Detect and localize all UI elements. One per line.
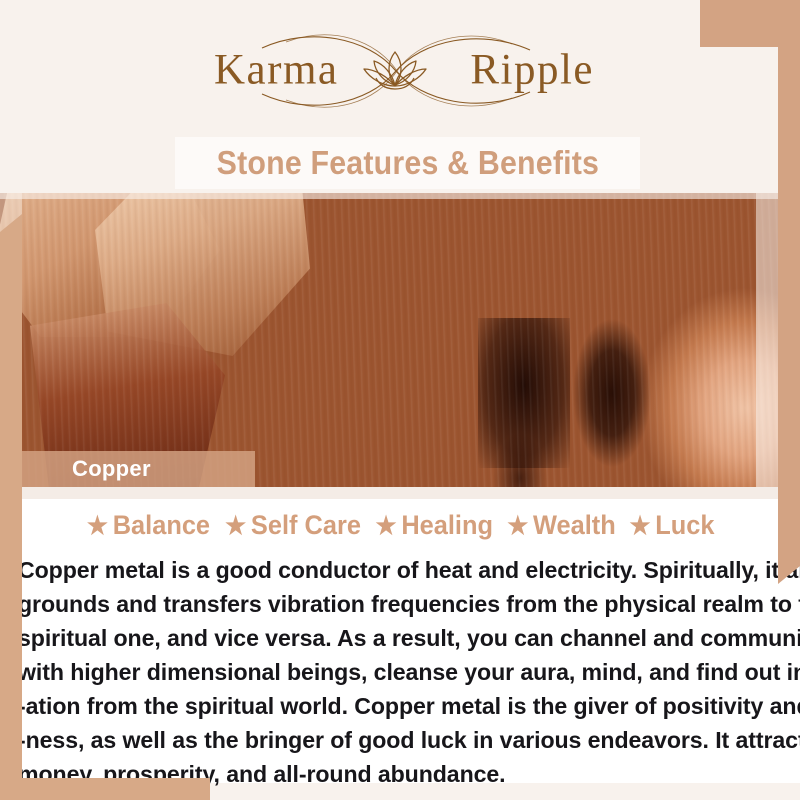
description-line: Copper metal is a good conductor of heat…: [18, 553, 771, 587]
star-icon: ★: [508, 511, 529, 541]
benefit-label: Healing: [402, 510, 494, 541]
benefit-label: Self Care: [251, 510, 361, 541]
header: Karma Ripple: [0, 0, 800, 140]
description-text: Copper metal is a good conductor of heat…: [18, 553, 782, 791]
benefit-label: Wealth: [533, 510, 616, 541]
brand-name-left: Karma: [214, 46, 339, 95]
benefit-item: ★ Luck: [623, 510, 715, 541]
star-icon: ★: [225, 511, 246, 541]
description-line: grounds and transfers vibration frequenc…: [18, 587, 771, 621]
frame-accent-left: [0, 232, 22, 800]
page-title-band: Stone Features & Benefits: [175, 137, 640, 189]
benefit-label: Balance: [113, 510, 210, 541]
photo-top-fade: [0, 193, 800, 199]
content-panel: ★ Balance ★ Self Care ★ Healing ★ Wealth…: [0, 499, 800, 783]
description-line: spiritual one, and vice versa. As a resu…: [18, 621, 771, 655]
image-caption-label: Copper: [72, 456, 151, 482]
image-caption-bar: Copper: [0, 451, 255, 487]
frame-accent-right-tip: [778, 566, 800, 584]
description-line: -ness, as well as the bringer of good lu…: [18, 723, 771, 757]
photo-bottom-fade: [0, 487, 800, 499]
brand-name-right: Ripple: [470, 46, 594, 95]
benefit-item: ★ Wealth: [501, 510, 616, 541]
benefit-item: ★ Self Care: [218, 510, 360, 541]
frame-accent-left-tip: [0, 214, 22, 232]
photo-brush-texture: [0, 193, 800, 487]
star-icon: ★: [87, 511, 108, 541]
hero-image: [0, 193, 800, 487]
benefit-label: Luck: [655, 510, 714, 541]
benefit-item: ★ Healing: [369, 510, 493, 541]
frame-accent-bottom-left: [0, 778, 210, 800]
benefits-list: ★ Balance ★ Self Care ★ Healing ★ Wealth…: [0, 499, 800, 541]
description-line: with higher dimensional beings, cleanse …: [18, 655, 771, 689]
star-icon: ★: [376, 511, 397, 541]
description-line: -ation from the spiritual world. Copper …: [18, 689, 771, 723]
infographic-page: Karma Ripple Stone Features & Benefits C…: [0, 0, 800, 800]
brand-logo: Karma Ripple: [190, 28, 610, 114]
page-title: Stone Features & Benefits: [216, 144, 599, 182]
star-icon: ★: [629, 511, 650, 541]
frame-accent-right: [778, 0, 800, 566]
benefit-item: ★ Balance: [87, 510, 210, 541]
